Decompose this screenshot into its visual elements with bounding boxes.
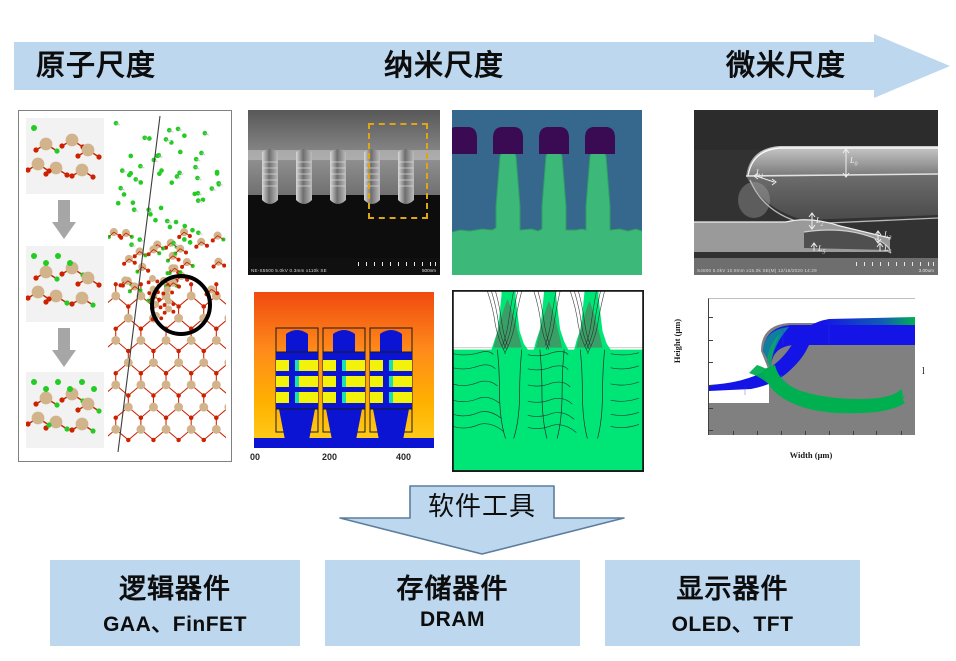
hw-profile-image: [709, 299, 915, 435]
thermal-xtick-1: 200: [322, 452, 337, 462]
md-highlight-circle-icon: [150, 274, 212, 336]
panel-sem-fin-array: NE-S5500 5.0kV 0.3mm x110k SE 500nm: [248, 110, 440, 275]
scale-banner-arrowhead-icon: [874, 34, 950, 98]
sem-scalebar-ticks: [358, 262, 436, 266]
panel-thermal-simulation: 00 200 400: [248, 290, 440, 470]
md-reaction-step-2: [26, 246, 104, 322]
thermal-xtick-2: 400: [396, 452, 411, 462]
thermal-xtick-0: 00: [250, 452, 260, 462]
panel-etch-profile-sim: [452, 110, 642, 275]
device-title-memory: 存储器件: [325, 567, 580, 606]
md-reaction-step-1: [26, 118, 104, 194]
md-inset-atoms: [26, 372, 104, 448]
etch-profile-image: [452, 110, 642, 275]
sem-xsec-scalebar-ticks: [856, 262, 934, 266]
sem-fins-scalebar-label: 500nm: [422, 268, 436, 273]
panel-contour-evolution: [452, 290, 644, 472]
panel-atomistic-md: [18, 110, 232, 462]
scale-label-atomic: 原子尺度: [36, 42, 156, 90]
hw-x-axis-label: Width (μm): [708, 450, 914, 460]
device-subtitle-logic: GAA、FinFET: [50, 608, 300, 638]
thermal-field-image: [254, 292, 434, 448]
md-inset-atoms: [26, 118, 104, 194]
device-box-display[interactable]: 显示器件 OLED、TFT: [605, 560, 860, 646]
sem-cross-section-image: [694, 110, 938, 275]
panel-sem-cross-section: L0 L1 L2 L3 L4 L5 S4800 5.0kV 10.8mm x15…: [694, 110, 938, 275]
device-subtitle-memory: DRAM: [325, 608, 580, 632]
md-inset-atoms: [26, 246, 104, 322]
software-tools-arrow: 软件工具: [336, 484, 628, 556]
device-box-memory[interactable]: 存储器件 DRAM: [325, 560, 580, 646]
device-box-logic[interactable]: 逻辑器件 GAA、FinFET: [50, 560, 300, 646]
down-arrow-icon: [52, 328, 76, 368]
sem-xsec-scalebar-label: 3.00um: [919, 268, 934, 273]
dimension-label-L3: L3: [884, 230, 891, 242]
dimension-label-L4: L4: [884, 244, 891, 256]
sem-fins-caption: NE-S5500 5.0kV 0.3mm x110k SE: [251, 268, 327, 273]
md-canvas: [22, 114, 228, 458]
panel-height-width-chart: 1 2 3 4 5 6 1 2 3 4 5 6 7 8 Width (μm) H…: [660, 288, 938, 474]
scale-banner: 原子尺度 纳米尺度 微米尺度: [14, 34, 950, 98]
hw-y-axis-label: Height (μm): [672, 306, 682, 376]
dimension-label-L2: L2: [816, 216, 823, 228]
dimension-label-L1: L1: [756, 168, 763, 180]
scale-label-micro: 微米尺度: [726, 42, 846, 90]
hw-right-annotation: l: [922, 366, 925, 377]
device-subtitle-display: OLED、TFT: [605, 608, 860, 638]
thermal-x-axis: 00 200 400: [248, 452, 440, 468]
scale-label-nano: 纳米尺度: [384, 42, 504, 90]
contour-evolution-image: [453, 291, 643, 471]
device-title-display: 显示器件: [605, 567, 860, 606]
dimension-label-L0: L0: [850, 156, 857, 168]
sem-xsec-caption: S4800 5.0kV 10.8mm x15.0k SE(M) 12/16/20…: [697, 268, 817, 273]
device-title-logic: 逻辑器件: [50, 567, 300, 606]
down-arrow-icon: [52, 200, 76, 240]
md-reaction-step-3: [26, 372, 104, 448]
dimension-label-L5: L5: [818, 244, 825, 256]
software-tools-label: 软件工具: [336, 488, 628, 524]
hw-plot-area: 1 2 3 4 5 6 1 2 3 4 5 6 7 8: [708, 298, 915, 435]
sem-roi-dashed-box: [368, 123, 428, 219]
